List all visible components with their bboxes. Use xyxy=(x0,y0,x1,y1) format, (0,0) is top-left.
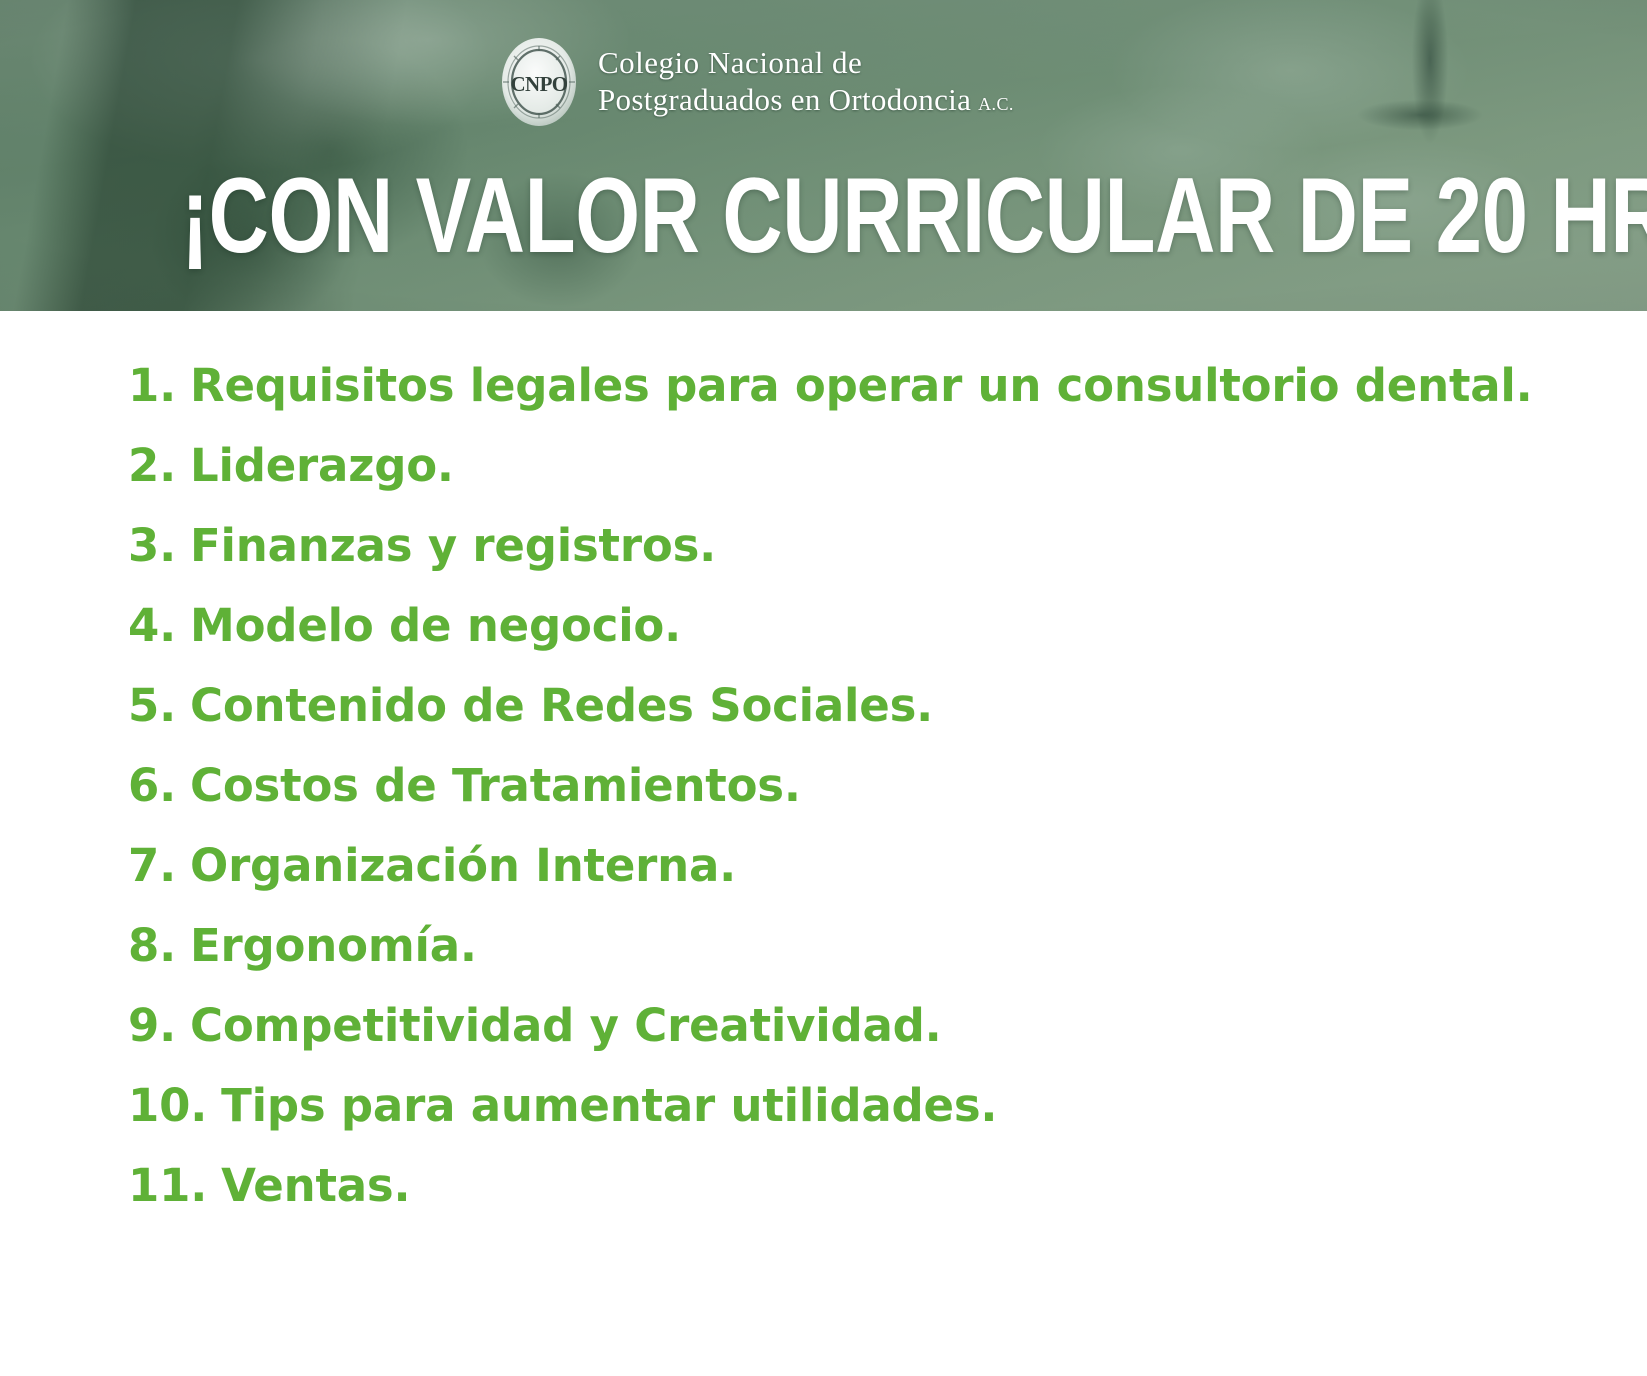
poster-root: CNPO Colegio Nacional de Postgraduados e… xyxy=(0,0,1647,1376)
list-item-label: Liderazgo. xyxy=(190,443,454,488)
list-item: 4.Modelo de negocio. xyxy=(0,603,1647,648)
list-item-label: Costos de Tratamientos. xyxy=(190,763,801,808)
list-item: 6.Costos de Tratamientos. xyxy=(0,763,1647,808)
list-item: 2.Liderazgo. xyxy=(0,443,1647,488)
brand-lockup: CNPO Colegio Nacional de Postgraduados e… xyxy=(497,34,1014,130)
svg-text:CNPO: CNPO xyxy=(510,72,567,96)
list-item-number: 7. xyxy=(128,843,176,888)
list-item-number: 8. xyxy=(128,923,176,968)
list-item-label: Organización Interna. xyxy=(190,843,736,888)
list-item-label: Competitividad y Creatividad. xyxy=(190,1003,942,1048)
list-item-number: 1. xyxy=(128,363,176,408)
list-item-number: 4. xyxy=(128,603,176,648)
list-item-label: Finanzas y registros. xyxy=(190,523,716,568)
page-title: ¡CON VALOR CURRICULAR DE 20 HRS! xyxy=(181,161,1466,270)
list-item: 7.Organización Interna. xyxy=(0,843,1647,888)
list-item-label: Contenido de Redes Sociales. xyxy=(190,683,933,728)
list-item-label: Tips para aumentar utilidades. xyxy=(221,1083,997,1128)
list-item: 9.Competitividad y Creatividad. xyxy=(0,1003,1647,1048)
list-item: 11.Ventas. xyxy=(0,1163,1647,1208)
list-item-label: Ergonomía. xyxy=(190,923,477,968)
list-item: 5.Contenido de Redes Sociales. xyxy=(0,683,1647,728)
list-item-number: 3. xyxy=(128,523,176,568)
brand-name: Colegio Nacional de Postgraduados en Ort… xyxy=(598,45,1014,118)
brand-line-1: Colegio Nacional de xyxy=(598,45,1014,82)
brand-line-2: Postgraduados en Ortodoncia xyxy=(598,82,971,117)
list-item-number: 6. xyxy=(128,763,176,808)
topic-list: 1.Requisitos legales para operar un cons… xyxy=(0,311,1647,1243)
list-item: 1.Requisitos legales para operar un cons… xyxy=(0,363,1647,408)
list-item-number: 2. xyxy=(128,443,176,488)
list-item-label: Ventas. xyxy=(221,1163,410,1208)
cnpo-circular-seal-icon: CNPO xyxy=(497,34,581,130)
header-banner: CNPO Colegio Nacional de Postgraduados e… xyxy=(0,0,1647,311)
list-item: 10.Tips para aumentar utilidades. xyxy=(0,1083,1647,1128)
list-item-number: 10. xyxy=(128,1083,207,1128)
list-item: 8.Ergonomía. xyxy=(0,923,1647,968)
list-item-label: Modelo de negocio. xyxy=(190,603,681,648)
list-item-number: 11. xyxy=(128,1163,207,1208)
list-item-number: 9. xyxy=(128,1003,176,1048)
list-item-label: Requisitos legales para operar un consul… xyxy=(190,363,1533,408)
list-item: 3.Finanzas y registros. xyxy=(0,523,1647,568)
brand-suffix: A.C. xyxy=(978,94,1014,114)
list-item-number: 5. xyxy=(128,683,176,728)
